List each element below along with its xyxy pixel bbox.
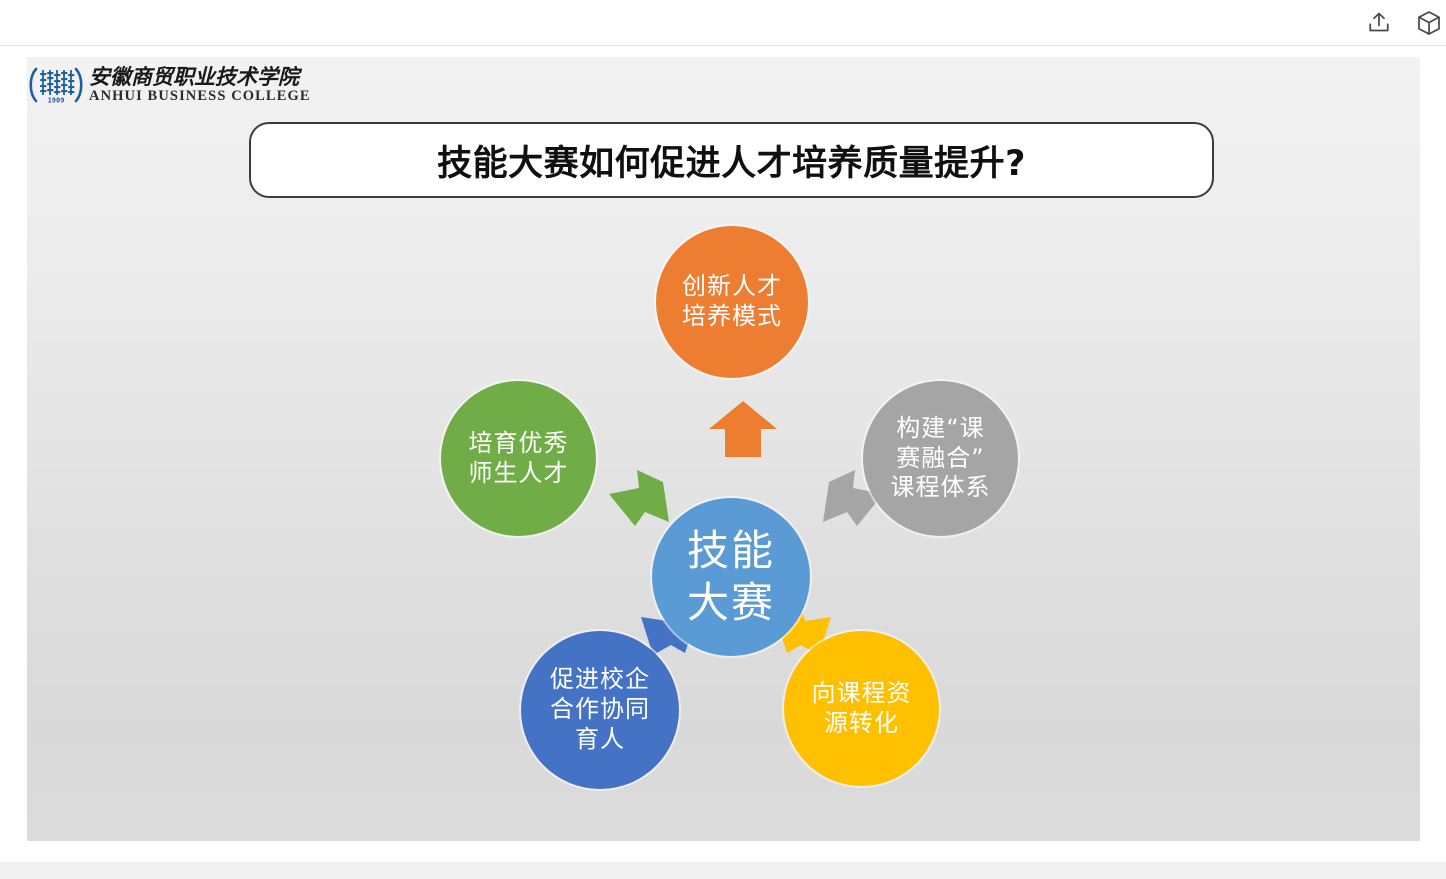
diagram-node-bottom-right-label: 向课程资 源转化: [812, 679, 912, 739]
arrow-left-icon: [605, 464, 673, 534]
diagram-node-right-label: 构建“课 赛融合” 课程体系: [891, 414, 991, 503]
share-icon[interactable]: [1364, 8, 1394, 38]
diagram-node-left[interactable]: 培育优秀 师生人才: [441, 381, 596, 536]
diagram-node-top[interactable]: 创新人才 培养模式: [656, 226, 808, 378]
diagram-node-bottom-right[interactable]: 向课程资 源转化: [784, 631, 939, 786]
diagram-node-bottom-left[interactable]: 促进校企 合作协同 育人: [521, 631, 679, 789]
hub-and-spoke-diagram: 技能 大赛 创新人才 培养模式 构建“课 赛融合” 课程体系 向课程资 源转化 …: [27, 57, 1420, 841]
viewer-bottom-strip: [0, 862, 1446, 879]
arrow-up-icon: [707, 399, 779, 459]
diagram-center-node[interactable]: 技能 大赛: [652, 498, 810, 656]
diagram-node-top-label: 创新人才 培养模式: [682, 272, 782, 332]
presentation-slide: 1909 安徽商贸职业技术学院 ANHUI BUSINESS COLLEGE 技…: [27, 57, 1420, 841]
diagram-center-label: 技能 大赛: [687, 525, 775, 629]
diagram-node-bottom-left-label: 促进校企 合作协同 育人: [550, 665, 650, 754]
cube-icon[interactable]: [1414, 8, 1444, 38]
diagram-node-right[interactable]: 构建“课 赛融合” 课程体系: [863, 381, 1018, 536]
document-page: 1909 安徽商贸职业技术学院 ANHUI BUSINESS COLLEGE 技…: [0, 46, 1446, 862]
diagram-node-left-label: 培育优秀 师生人才: [469, 429, 569, 489]
viewer-toolbar: [0, 0, 1446, 46]
